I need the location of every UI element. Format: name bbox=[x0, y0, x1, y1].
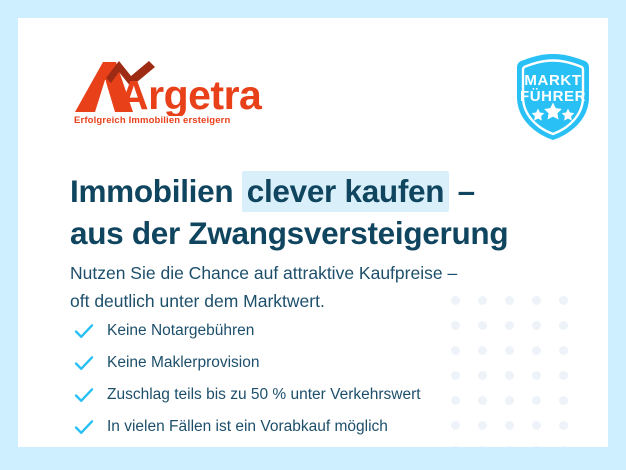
dot bbox=[451, 346, 460, 355]
dot bbox=[559, 421, 568, 430]
argetra-logo-mark: Argetra bbox=[73, 60, 273, 116]
list-item-label: Keine Maklerprovision bbox=[107, 355, 260, 371]
promo-banner: Argetra Erfolgreich Immobilien ersteiger… bbox=[0, 0, 626, 470]
dot bbox=[451, 446, 460, 447]
headline-highlight: clever kaufen bbox=[242, 171, 449, 212]
list-item: In vielen Fällen ist ein Vorabkauf mögli… bbox=[73, 411, 421, 443]
list-item: Keine Notargebühren bbox=[73, 315, 421, 347]
market-leader-badge: MARKT FÜHRER bbox=[507, 51, 599, 143]
check-icon bbox=[73, 352, 95, 374]
dot bbox=[478, 446, 487, 447]
check-icon bbox=[73, 320, 95, 342]
dot bbox=[478, 346, 487, 355]
dot bbox=[505, 296, 514, 305]
page-title: Immobilien clever kaufen – aus der Zwang… bbox=[70, 171, 508, 255]
dot bbox=[478, 396, 487, 405]
dot bbox=[559, 296, 568, 305]
headline-line-1: Immobilien clever kaufen – bbox=[70, 171, 508, 213]
dot bbox=[532, 371, 541, 380]
dot bbox=[532, 446, 541, 447]
list-item-label: In vielen Fällen ist ein Vorabkauf mögli… bbox=[107, 419, 388, 435]
check-icon bbox=[73, 384, 95, 406]
headline-pre: Immobilien bbox=[70, 173, 242, 209]
dot bbox=[532, 346, 541, 355]
check-icon bbox=[73, 416, 95, 438]
dot bbox=[451, 321, 460, 330]
dot bbox=[559, 321, 568, 330]
subheadline: Nutzen Sie die Chance auf attraktive Kau… bbox=[70, 259, 457, 316]
list-item: Keine Maklerprovision bbox=[73, 347, 421, 379]
dot bbox=[532, 321, 541, 330]
dot bbox=[505, 346, 514, 355]
list-item: Zuschlag teils bis zu 50 % unter Verkehr… bbox=[73, 379, 421, 411]
argetra-logo[interactable]: Argetra Erfolgreich Immobilien ersteiger… bbox=[73, 60, 273, 130]
dot bbox=[532, 396, 541, 405]
shield-icon bbox=[507, 51, 599, 143]
svg-text:Argetra: Argetra bbox=[119, 72, 263, 116]
dot bbox=[559, 446, 568, 447]
dot bbox=[505, 446, 514, 447]
dot bbox=[505, 396, 514, 405]
dot bbox=[559, 396, 568, 405]
dot bbox=[451, 371, 460, 380]
dot bbox=[532, 296, 541, 305]
decorative-dot-grid bbox=[451, 296, 586, 447]
dot bbox=[505, 371, 514, 380]
dot bbox=[505, 321, 514, 330]
headline-post: – bbox=[449, 173, 475, 209]
dot bbox=[559, 371, 568, 380]
banner-card: Argetra Erfolgreich Immobilien ersteiger… bbox=[18, 18, 608, 447]
dot bbox=[532, 421, 541, 430]
dot bbox=[505, 421, 514, 430]
dot bbox=[478, 371, 487, 380]
dot bbox=[478, 296, 487, 305]
dot bbox=[478, 421, 487, 430]
headline-line-2: aus der Zwangsversteigerung bbox=[70, 213, 508, 255]
dot bbox=[451, 421, 460, 430]
benefits-checklist: Keine Notargebühren Keine Maklerprovisio… bbox=[73, 315, 421, 443]
dot bbox=[478, 321, 487, 330]
logo-tagline: Erfolgreich Immobilien ersteigern bbox=[74, 115, 230, 126]
dot bbox=[451, 396, 460, 405]
dot bbox=[559, 346, 568, 355]
subheadline-line-1: Nutzen Sie die Chance auf attraktive Kau… bbox=[70, 259, 457, 287]
list-item-label: Zuschlag teils bis zu 50 % unter Verkehr… bbox=[107, 387, 421, 403]
list-item-label: Keine Notargebühren bbox=[107, 323, 254, 339]
subheadline-line-2: oft deutlich unter dem Marktwert. bbox=[70, 287, 457, 315]
